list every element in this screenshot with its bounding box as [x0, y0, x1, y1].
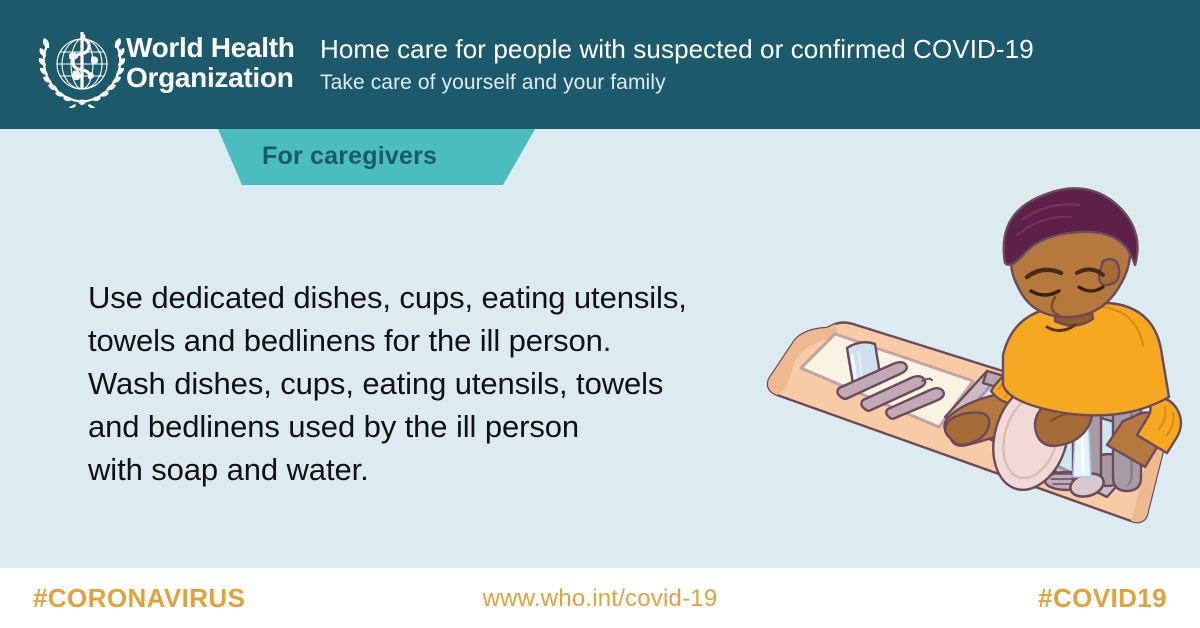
body-message: Use dedicated dishes, cups, eating utens… — [88, 276, 768, 491]
person-washing-dishes-illustration — [755, 185, 1200, 535]
footer-hashtag-covid19: #COVID19 — [1038, 583, 1167, 614]
who-emblem-icon — [33, 24, 131, 108]
page-subtitle: Take care of yourself and your family — [320, 70, 666, 96]
body-line-2: towels and bedlinens for the ill person. — [88, 319, 768, 362]
header-bar: World Health Organization Home care for … — [0, 0, 1200, 129]
body-line-4: and bedlinens used by the ill person — [88, 405, 768, 448]
body-line-3: Wash dishes, cups, eating utensils, towe… — [88, 362, 768, 405]
who-covid19-infographic: World Health Organization Home care for … — [0, 0, 1200, 628]
body-line-5: with soap and water. — [88, 448, 768, 491]
who-wordmark-line2: Organization — [126, 63, 295, 93]
who-wordmark: World Health Organization — [126, 33, 295, 93]
caregivers-tab-label: For caregivers — [262, 142, 437, 171]
header-divider — [300, 24, 301, 106]
page-title: Home care for people with suspected or c… — [320, 33, 1034, 65]
who-wordmark-line1: World Health — [126, 33, 295, 63]
body-line-1: Use dedicated dishes, cups, eating utens… — [88, 276, 768, 319]
footer-url[interactable]: www.who.int/covid-19 — [0, 585, 1200, 613]
